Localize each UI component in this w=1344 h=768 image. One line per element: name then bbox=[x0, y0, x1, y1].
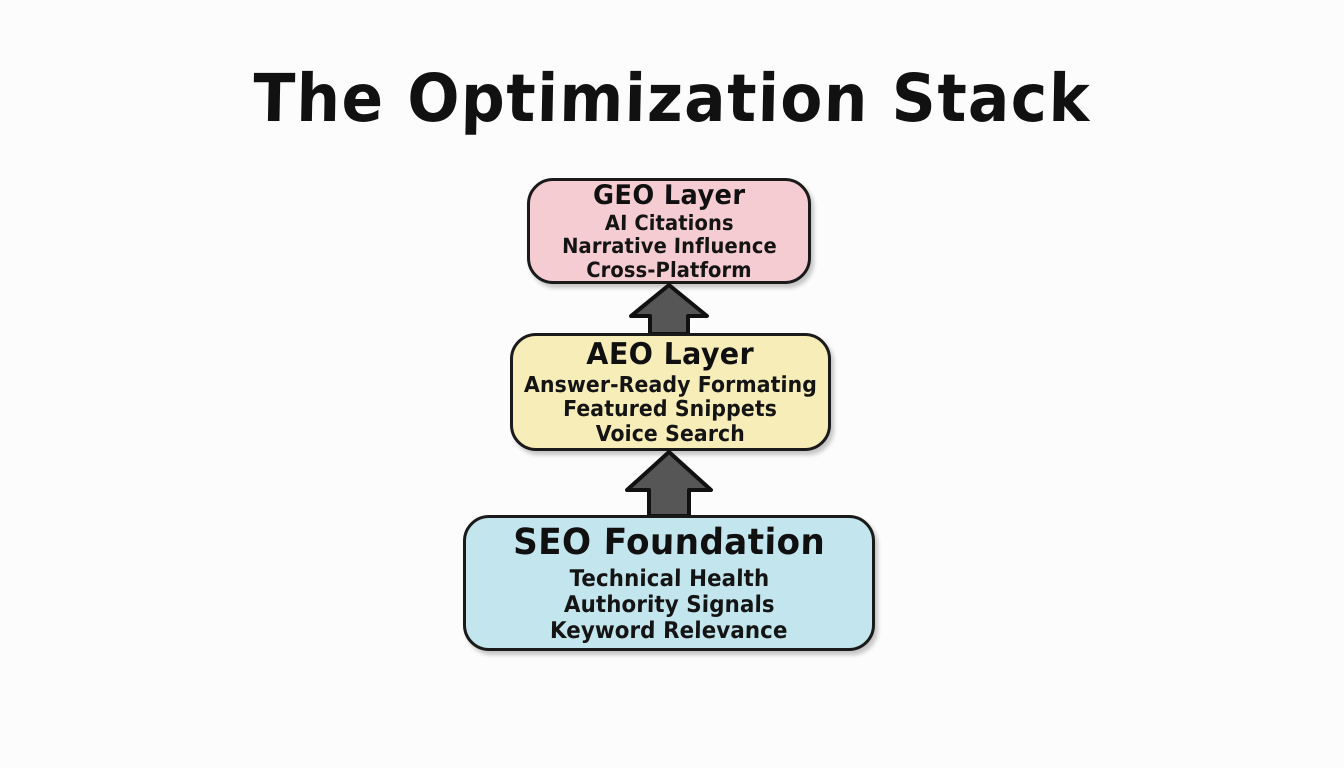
seo-foundation-box[interactable]: SEO Foundation Technical Health Authorit… bbox=[463, 515, 875, 651]
diagram-canvas: The Optimization Stack GEO Layer AI Cita… bbox=[0, 0, 1344, 768]
aeo-layer-heading: AEO Layer bbox=[586, 337, 754, 372]
seo-foundation-item-2: Authority Signals bbox=[563, 592, 774, 618]
page-title: The Optimization Stack bbox=[46, 66, 1297, 132]
geo-layer-item-3: Cross-Platform bbox=[586, 259, 752, 282]
geo-layer-item-1: AI Citations bbox=[604, 212, 733, 235]
geo-layer-item-2: Narrative Influence bbox=[561, 235, 776, 258]
arrow-up-seo-to-aeo-icon bbox=[624, 450, 714, 517]
aeo-layer-item-2: Featured Snippets bbox=[563, 398, 777, 423]
seo-foundation-heading: SEO Foundation bbox=[513, 522, 826, 563]
geo-layer-heading: GEO Layer bbox=[593, 180, 746, 211]
aeo-layer-box[interactable]: AEO Layer Answer-Ready Formating Feature… bbox=[510, 333, 831, 451]
aeo-layer-item-1: Answer-Ready Formating bbox=[524, 374, 817, 399]
aeo-layer-item-3: Voice Search bbox=[596, 423, 746, 448]
geo-layer-box[interactable]: GEO Layer AI Citations Narrative Influen… bbox=[527, 178, 811, 284]
arrow-up-aeo-to-geo-icon bbox=[628, 283, 710, 335]
seo-foundation-item-1: Technical Health bbox=[569, 566, 769, 592]
seo-foundation-item-3: Keyword Relevance bbox=[550, 618, 788, 644]
